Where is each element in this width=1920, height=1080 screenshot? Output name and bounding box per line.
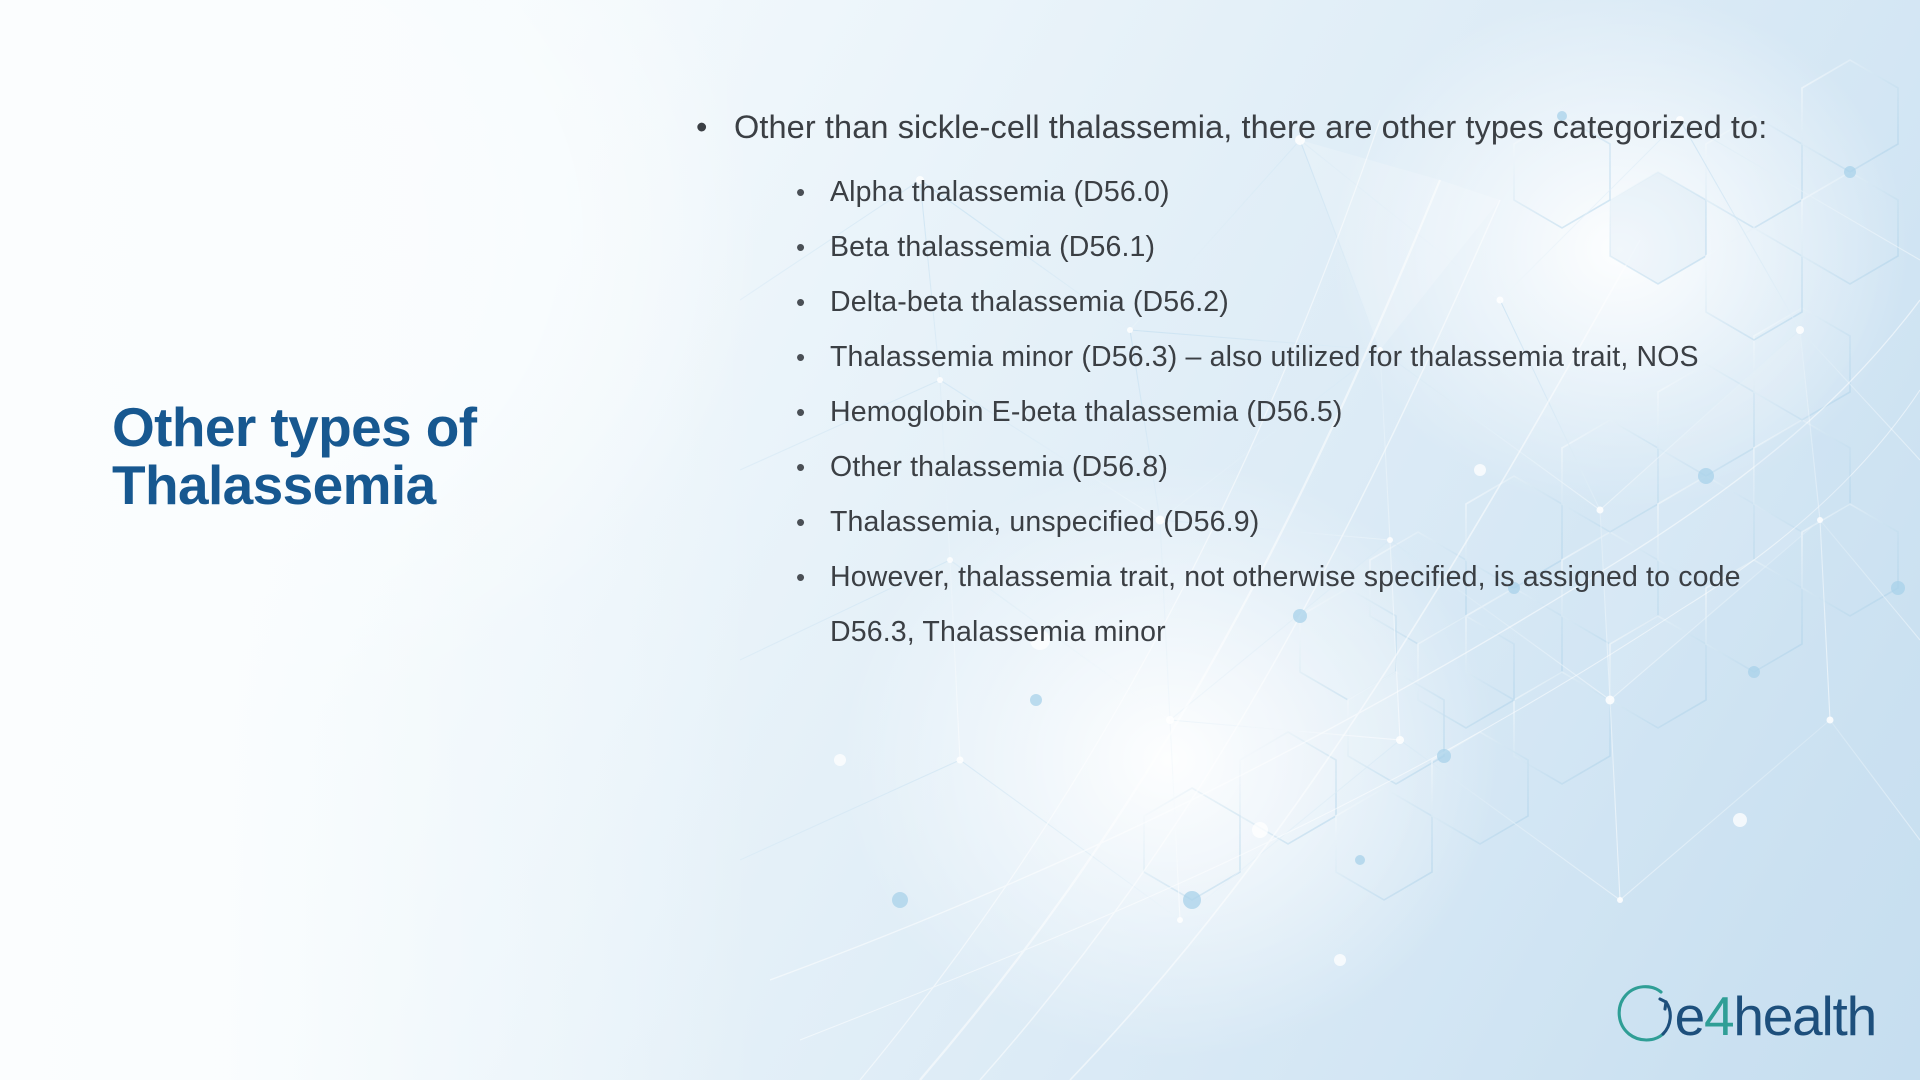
title-block: Other types of Thalassemia (112, 398, 632, 515)
bullet-marker-icon: • (796, 385, 805, 440)
main-bullet-text: Other than sickle-cell thalassemia, ther… (734, 109, 1767, 145)
content-area: • Other than sickle-cell thalassemia, th… (672, 96, 1802, 664)
swoosh-circle-icon (1607, 979, 1681, 1053)
page-title-line-1: Other types of (112, 396, 476, 458)
sub-bullet-text: Thalassemia, unspecified (D56.9) (830, 506, 1259, 538)
page-title-line-2: Thalassemia (112, 456, 632, 514)
bullet-marker-icon: • (796, 165, 805, 220)
list-item: • Thalassemia minor (D56.3) – also utili… (778, 330, 1802, 385)
sub-bullet-text: Alpha thalassemia (D56.0) (830, 176, 1170, 208)
list-item: • However, thalassemia trait, not otherw… (778, 550, 1802, 660)
list-item: • Other than sickle-cell thalassemia, th… (672, 96, 1802, 660)
slide-canvas: Other types of Thalassemia • Other than … (0, 0, 1920, 1080)
background-left-fade (0, 0, 760, 1080)
sub-bullet-text: Hemoglobin E-beta thalassemia (D56.5) (830, 396, 1342, 428)
logo-word-health: health (1733, 985, 1876, 1047)
bullet-marker-icon: • (796, 440, 805, 495)
bullet-marker-icon: • (796, 275, 805, 330)
sub-bullet-list: • Alpha thalassemia (D56.0) • Beta thala… (734, 165, 1802, 660)
logo-wordmark: e4health (1675, 989, 1876, 1044)
bullet-marker-icon: • (796, 495, 805, 550)
page-title: Other types of Thalassemia (112, 398, 632, 515)
bullet-marker-icon: • (796, 550, 805, 605)
sub-bullet-text: Beta thalassemia (D56.1) (830, 231, 1155, 263)
list-item: • Thalassemia, unspecified (D56.9) (778, 495, 1802, 550)
list-item: • Beta thalassemia (D56.1) (778, 220, 1802, 275)
list-item: • Hemoglobin E-beta thalassemia (D56.5) (778, 385, 1802, 440)
sub-bullet-text: Other thalassemia (D56.8) (830, 451, 1168, 483)
sub-bullet-text: However, thalassemia trait, not otherwis… (830, 561, 1741, 648)
list-item: • Delta-beta thalassemia (D56.2) (778, 275, 1802, 330)
brand-logo: e4health (1607, 978, 1876, 1054)
sub-bullet-text: Delta-beta thalassemia (D56.2) (830, 286, 1229, 318)
logo-number-4: 4 (1704, 985, 1733, 1047)
bullet-marker-icon: • (796, 220, 805, 275)
list-item: • Other thalassemia (D56.8) (778, 440, 1802, 495)
bullet-marker-icon: • (696, 96, 707, 159)
list-item: • Alpha thalassemia (D56.0) (778, 165, 1802, 220)
bullet-marker-icon: • (796, 330, 805, 385)
main-bullet-list: • Other than sickle-cell thalassemia, th… (672, 96, 1802, 660)
sub-bullet-text: Thalassemia minor (D56.3) – also utilize… (830, 341, 1699, 373)
